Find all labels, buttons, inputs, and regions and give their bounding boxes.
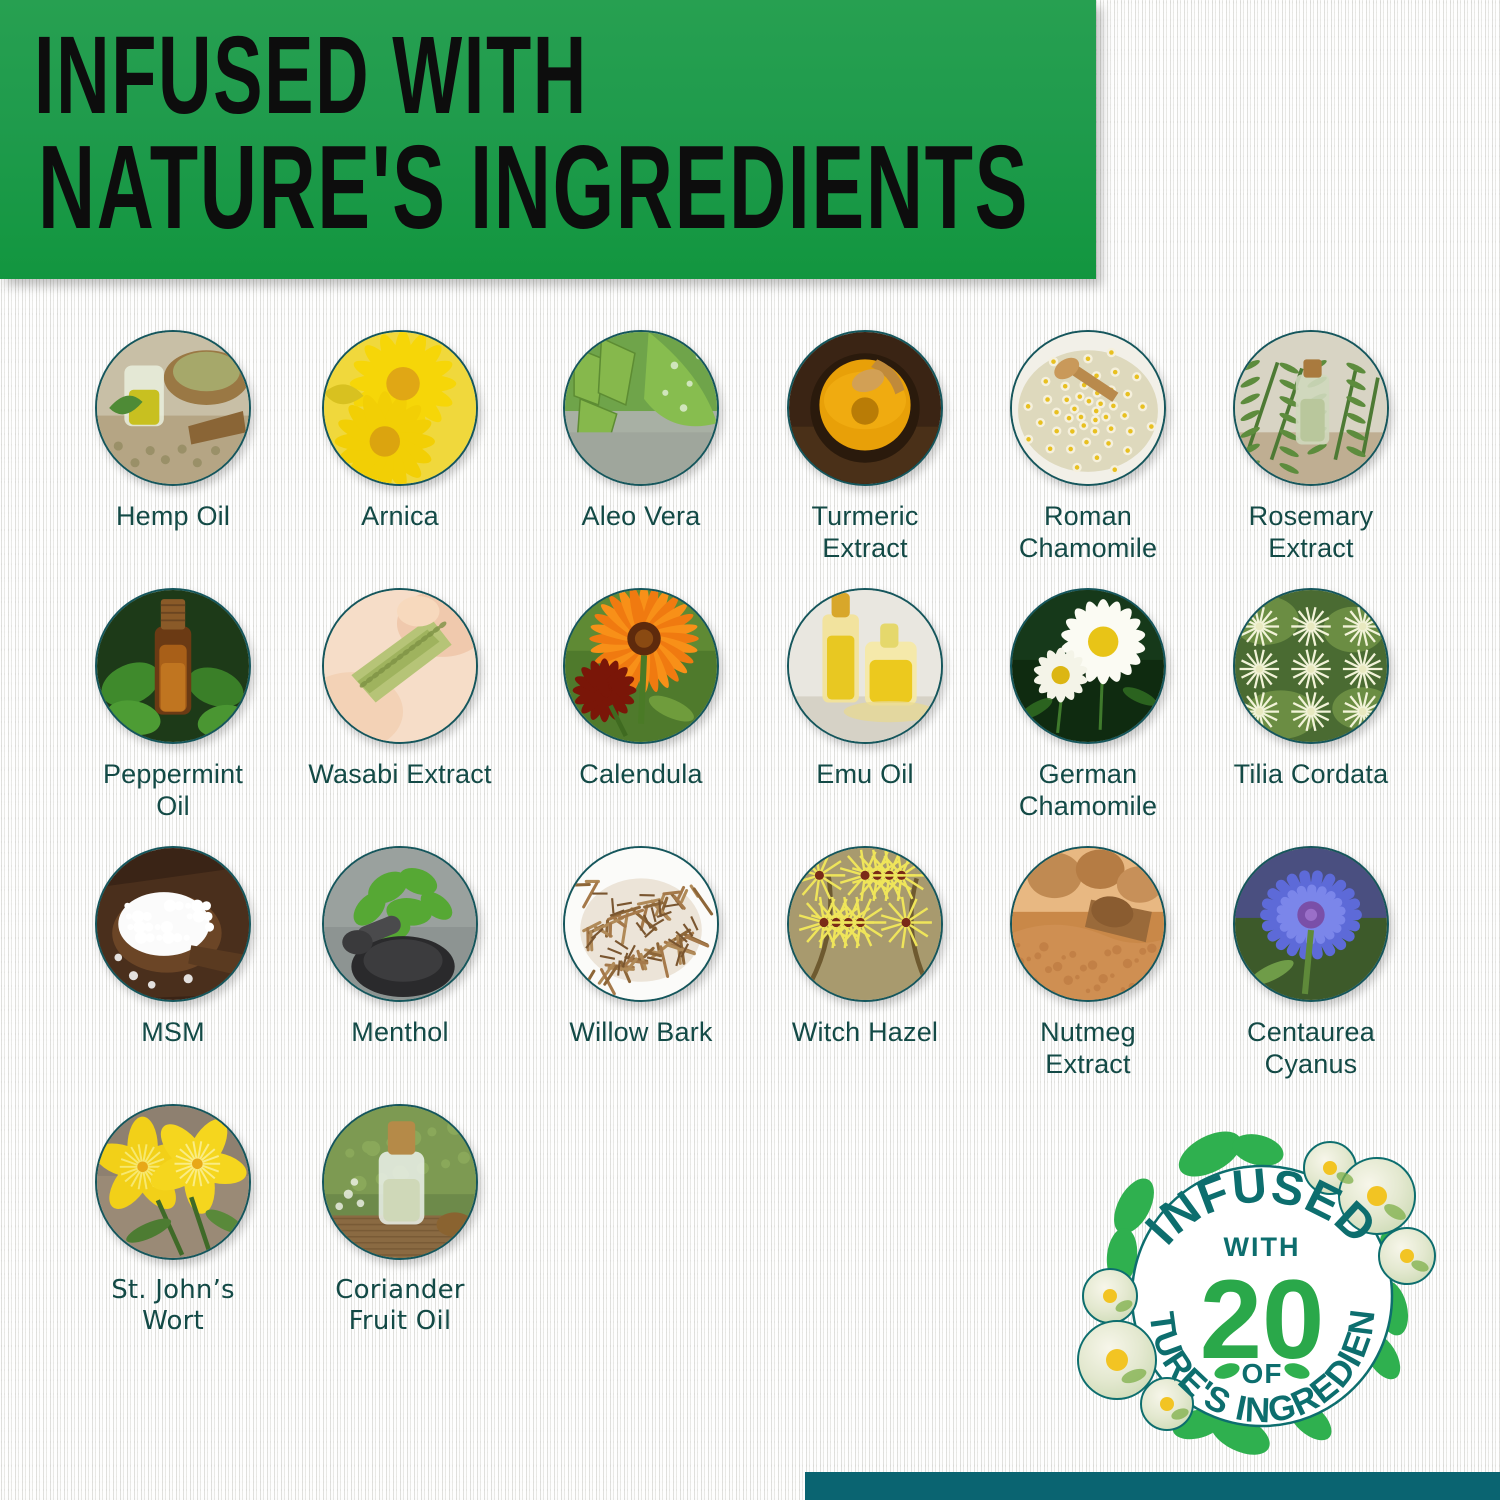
menthol-mortar-photo	[322, 846, 478, 1002]
ingredient-item: Witch Hazel	[750, 846, 980, 1049]
ingredient-label: Tilia Cordata	[1196, 759, 1426, 791]
ingredient-label: Witch Hazel	[750, 1017, 980, 1049]
ingredient-label: TurmericExtract	[750, 501, 980, 565]
ingredient-item: Menthol	[285, 846, 515, 1049]
roman-chamomile-photo	[1010, 330, 1166, 486]
ingredient-label: CentaureaCyanus	[1196, 1017, 1426, 1081]
ingredient-item: Arnica	[285, 330, 515, 533]
german-chamomile-photo	[1010, 588, 1166, 744]
ingredient-item: Emu Oil	[750, 588, 980, 791]
ingredient-label-line: Extract	[750, 533, 980, 565]
ingredient-label: Menthol	[285, 1017, 515, 1049]
ingredient-label: RomanChamomile	[973, 501, 1203, 565]
ingredient-label-line: Peppermint	[58, 759, 288, 791]
ingredient-label: CorianderFruit Oil	[285, 1275, 515, 1336]
ingredient-label-line: Fruit Oil	[285, 1306, 515, 1337]
ingredient-label-line: Wort	[58, 1306, 288, 1337]
ingredient-item: Hemp Oil	[58, 330, 288, 533]
hemp-oil-photo	[95, 330, 251, 486]
wasabi-paste-photo	[322, 588, 478, 744]
ingredient-item: PeppermintOil	[58, 588, 288, 823]
ingredient-label-line: Centaurea	[1196, 1017, 1426, 1049]
turmeric-powder-photo	[787, 330, 943, 486]
ingredient-label-line: Cyanus	[1196, 1049, 1426, 1081]
ingredient-item: Willow Bark	[526, 846, 756, 1049]
ingredient-item: GermanChamomile	[973, 588, 1203, 823]
ingredient-label: Calendula	[526, 759, 756, 791]
nutmeg-powder-photo	[1010, 846, 1166, 1002]
seal-of-text: OF	[1242, 1358, 1283, 1389]
ingredient-label: Arnica	[285, 501, 515, 533]
ingredient-label-line: Turmeric	[750, 501, 980, 533]
ingredient-label-line: Roman	[973, 501, 1203, 533]
ingredient-item: Aleo Vera	[526, 330, 756, 533]
st-johns-wort-photo	[95, 1104, 251, 1260]
calendula-flower-photo	[563, 588, 719, 744]
ingredient-item: CorianderFruit Oil	[285, 1104, 515, 1336]
ingredient-label-line: Nutmeg	[973, 1017, 1203, 1049]
ingredient-row: MSM Menthol Willow Bark	[0, 846, 1500, 1104]
coriander-oil-photo	[322, 1104, 478, 1260]
ingredient-label: Emu Oil	[750, 759, 980, 791]
peppermint-oil-photo	[95, 588, 251, 744]
ingredient-item: St. John’sWort	[58, 1104, 288, 1336]
ingredient-label-line: Oil	[58, 791, 288, 823]
ingredient-label-line: Extract	[1196, 533, 1426, 565]
ingredient-label: St. John’sWort	[58, 1275, 288, 1336]
ingredient-label: GermanChamomile	[973, 759, 1203, 823]
ingredient-item: TurmericExtract	[750, 330, 980, 565]
ingredient-item: RomanChamomile	[973, 330, 1203, 565]
tilia-cordata-photo	[1233, 588, 1389, 744]
ingredient-item: NutmegExtract	[973, 846, 1203, 1081]
header-title-line-2: NATURE'S INGREDIENTS	[38, 119, 1029, 256]
ingredient-label: PeppermintOil	[58, 759, 288, 823]
ingredient-label-line: Coriander	[285, 1275, 515, 1306]
cornflower-photo	[1233, 846, 1389, 1002]
ingredient-label-line: Extract	[973, 1049, 1203, 1081]
ingredient-item: MSM	[58, 846, 288, 1049]
ingredient-label: NutmegExtract	[973, 1017, 1203, 1081]
seal-graphic: INFUSED WITH 20 OF NATURE'S INGREDIENTS	[1062, 1128, 1462, 1458]
rosemary-bottle-photo	[1233, 330, 1389, 486]
ingredient-label: MSM	[58, 1017, 288, 1049]
ingredient-item: Calendula	[526, 588, 756, 791]
ingredient-row: PeppermintOil Wasabi Extract Cal	[0, 588, 1500, 846]
ingredient-label-line: Rosemary	[1196, 501, 1426, 533]
ingredient-item: Tilia Cordata	[1196, 588, 1426, 791]
aloe-vera-photo	[563, 330, 719, 486]
witch-hazel-photo	[787, 846, 943, 1002]
emu-oil-bottles-photo	[787, 588, 943, 744]
ingredient-label-line: Chamomile	[973, 533, 1203, 565]
willow-bark-photo	[563, 846, 719, 1002]
ingredient-label-line: Chamomile	[973, 791, 1203, 823]
bottom-accent-bar	[805, 1472, 1500, 1500]
ingredient-item: RosemaryExtract	[1196, 330, 1426, 565]
arnica-flower-photo	[322, 330, 478, 486]
infused-with-20-seal: INFUSED WITH 20 OF NATURE'S INGREDIENTS	[1062, 1128, 1462, 1458]
ingredient-label-line: German	[973, 759, 1203, 791]
infographic-page: INFUSED WITH NATURE'S INGREDIENTS Hemp O…	[0, 0, 1500, 1500]
ingredient-item: CentaureaCyanus	[1196, 846, 1426, 1081]
ingredient-label-line: St. John’s	[58, 1275, 288, 1306]
ingredient-item: Wasabi Extract	[285, 588, 515, 791]
ingredient-row: Hemp Oil Arnica Aleo Vera	[0, 330, 1500, 588]
ingredient-label: RosemaryExtract	[1196, 501, 1426, 565]
ingredient-label: Willow Bark	[526, 1017, 756, 1049]
header-banner: INFUSED WITH NATURE'S INGREDIENTS	[0, 0, 1096, 279]
ingredient-label: Wasabi Extract	[285, 759, 515, 791]
msm-crystals-photo	[95, 846, 251, 1002]
ingredient-label: Hemp Oil	[58, 501, 288, 533]
ingredient-label: Aleo Vera	[526, 501, 756, 533]
